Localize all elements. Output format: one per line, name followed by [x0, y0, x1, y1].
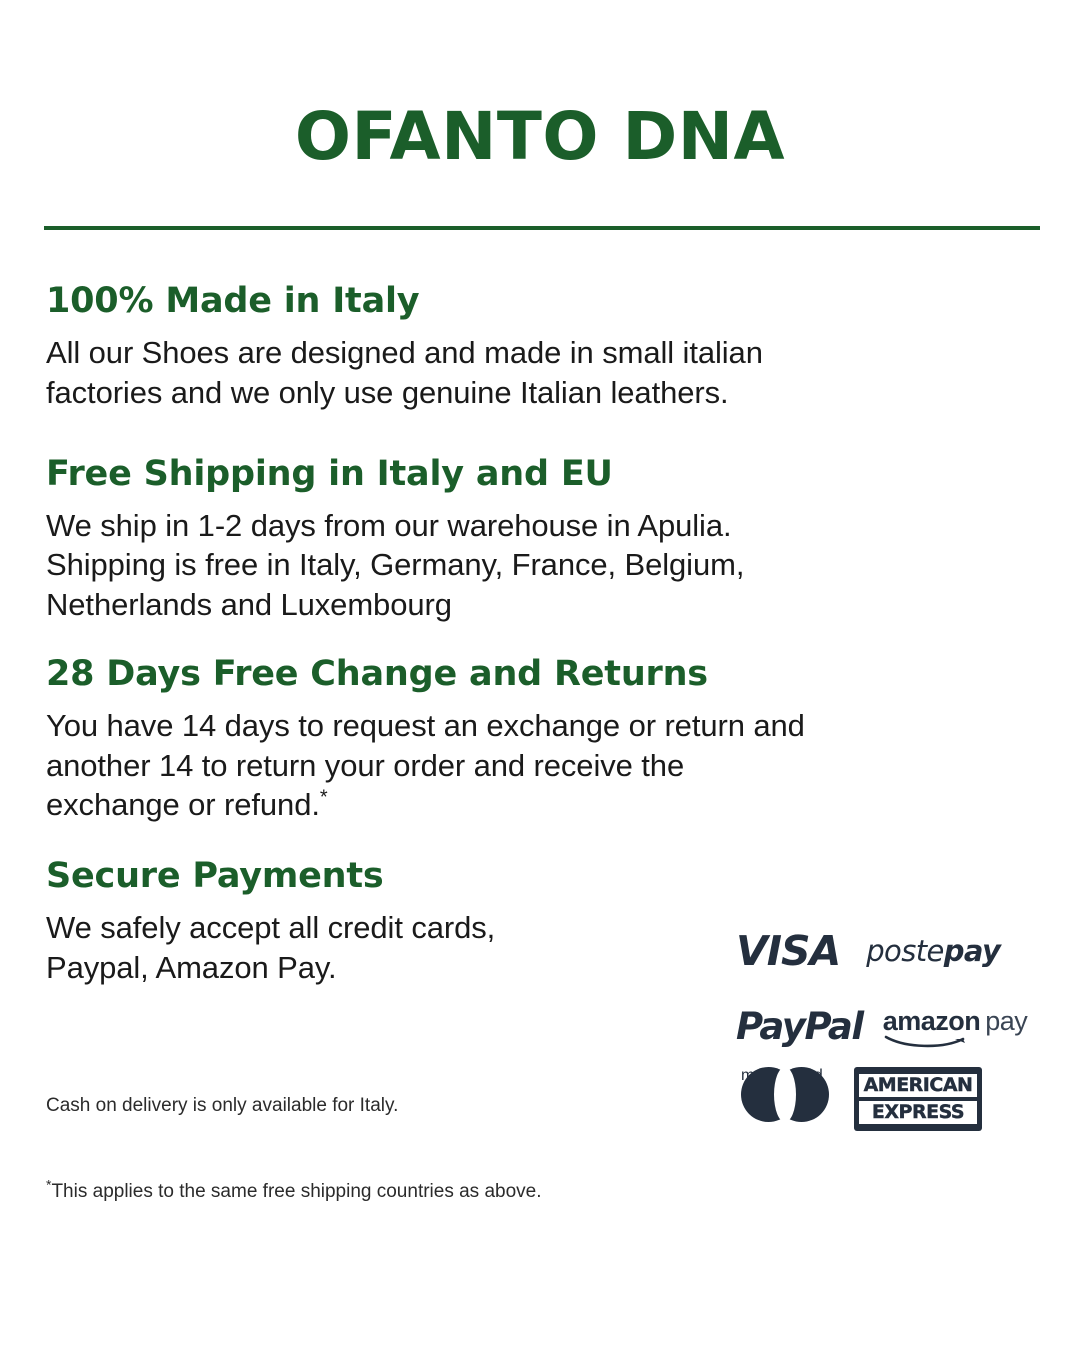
secure-payments-text: Secure Payments We safely accept all cre… [46, 857, 706, 988]
amex-line-express: EXPRESS [859, 1101, 977, 1124]
postepay-bold-text: pay [944, 934, 1001, 968]
section-heading-secure-payments: Secure Payments [46, 857, 706, 896]
amazon-pay-icon: amazonpay [883, 1006, 1028, 1046]
ofanto-dna-infographic: OFANTO DNA 100% Made in Italy All our Sh… [0, 0, 1080, 1350]
mastercard-icon: mastercard [736, 1067, 828, 1085]
shipping-footnote: *This applies to the same free shipping … [46, 1179, 542, 1206]
cash-on-delivery-note: Cash on delivery is only available for I… [46, 1093, 398, 1120]
spacer [46, 825, 1036, 857]
section-heading-made-in-italy: 100% Made in Italy [46, 282, 1036, 321]
paypal-icon: PayPal [736, 1005, 863, 1048]
section-body-free-shipping: We ship in 1-2 days from our warehouse i… [46, 506, 1036, 625]
american-express-icon: AMERICAN EXPRESS [854, 1067, 982, 1131]
section-body-made-in-italy: All our Shoes are designed and made in s… [46, 333, 1036, 412]
amazon-pay-suffix-text: pay [985, 1006, 1027, 1036]
shipping-footnote-text: This applies to the same free shipping c… [51, 1181, 541, 1202]
section-body-secure-payments: We safely accept all credit cards, Paypa… [46, 908, 706, 987]
returns-footnote-marker: * [320, 787, 328, 809]
spacer [46, 413, 1036, 455]
section-made-in-italy: 100% Made in Italy All our Shoes are des… [46, 282, 1036, 413]
section-heading-free-shipping: Free Shipping in Italy and EU [46, 455, 1036, 494]
page-title: OFANTO DNA [0, 104, 1080, 170]
postepay-light-text: poste [866, 934, 943, 968]
payment-logo-row-3: mastercard AMERICAN EXPRESS [736, 1067, 1016, 1149]
amazon-wordmark-text: amazon [883, 1006, 981, 1036]
mastercard-overlap-lens [774, 1067, 796, 1122]
visa-icon: VISA [736, 927, 840, 975]
spacer [46, 625, 1036, 655]
section-free-shipping: Free Shipping in Italy and EU We ship in… [46, 455, 1036, 625]
section-body-free-returns: You have 14 days to request an exchange … [46, 706, 1036, 825]
payment-logo-row-2: PayPal amazonpay [736, 997, 1016, 1055]
payment-logo-row-1: VISA postepay [736, 915, 1016, 987]
amex-line-american: AMERICAN [859, 1074, 977, 1097]
content-column: 100% Made in Italy All our Shoes are des… [46, 282, 1036, 987]
postepay-icon: postepay [866, 934, 1000, 968]
title-divider [44, 226, 1040, 230]
section-free-returns: 28 Days Free Change and Returns You have… [46, 655, 1036, 825]
payment-logos: VISA postepay PayPal amazonpay mastercar… [736, 915, 1016, 1149]
section-heading-free-returns: 28 Days Free Change and Returns [46, 655, 1036, 694]
amazon-smile-arrow-icon [885, 1034, 971, 1047]
section-body-free-returns-text: You have 14 days to request an exchange … [46, 708, 805, 822]
